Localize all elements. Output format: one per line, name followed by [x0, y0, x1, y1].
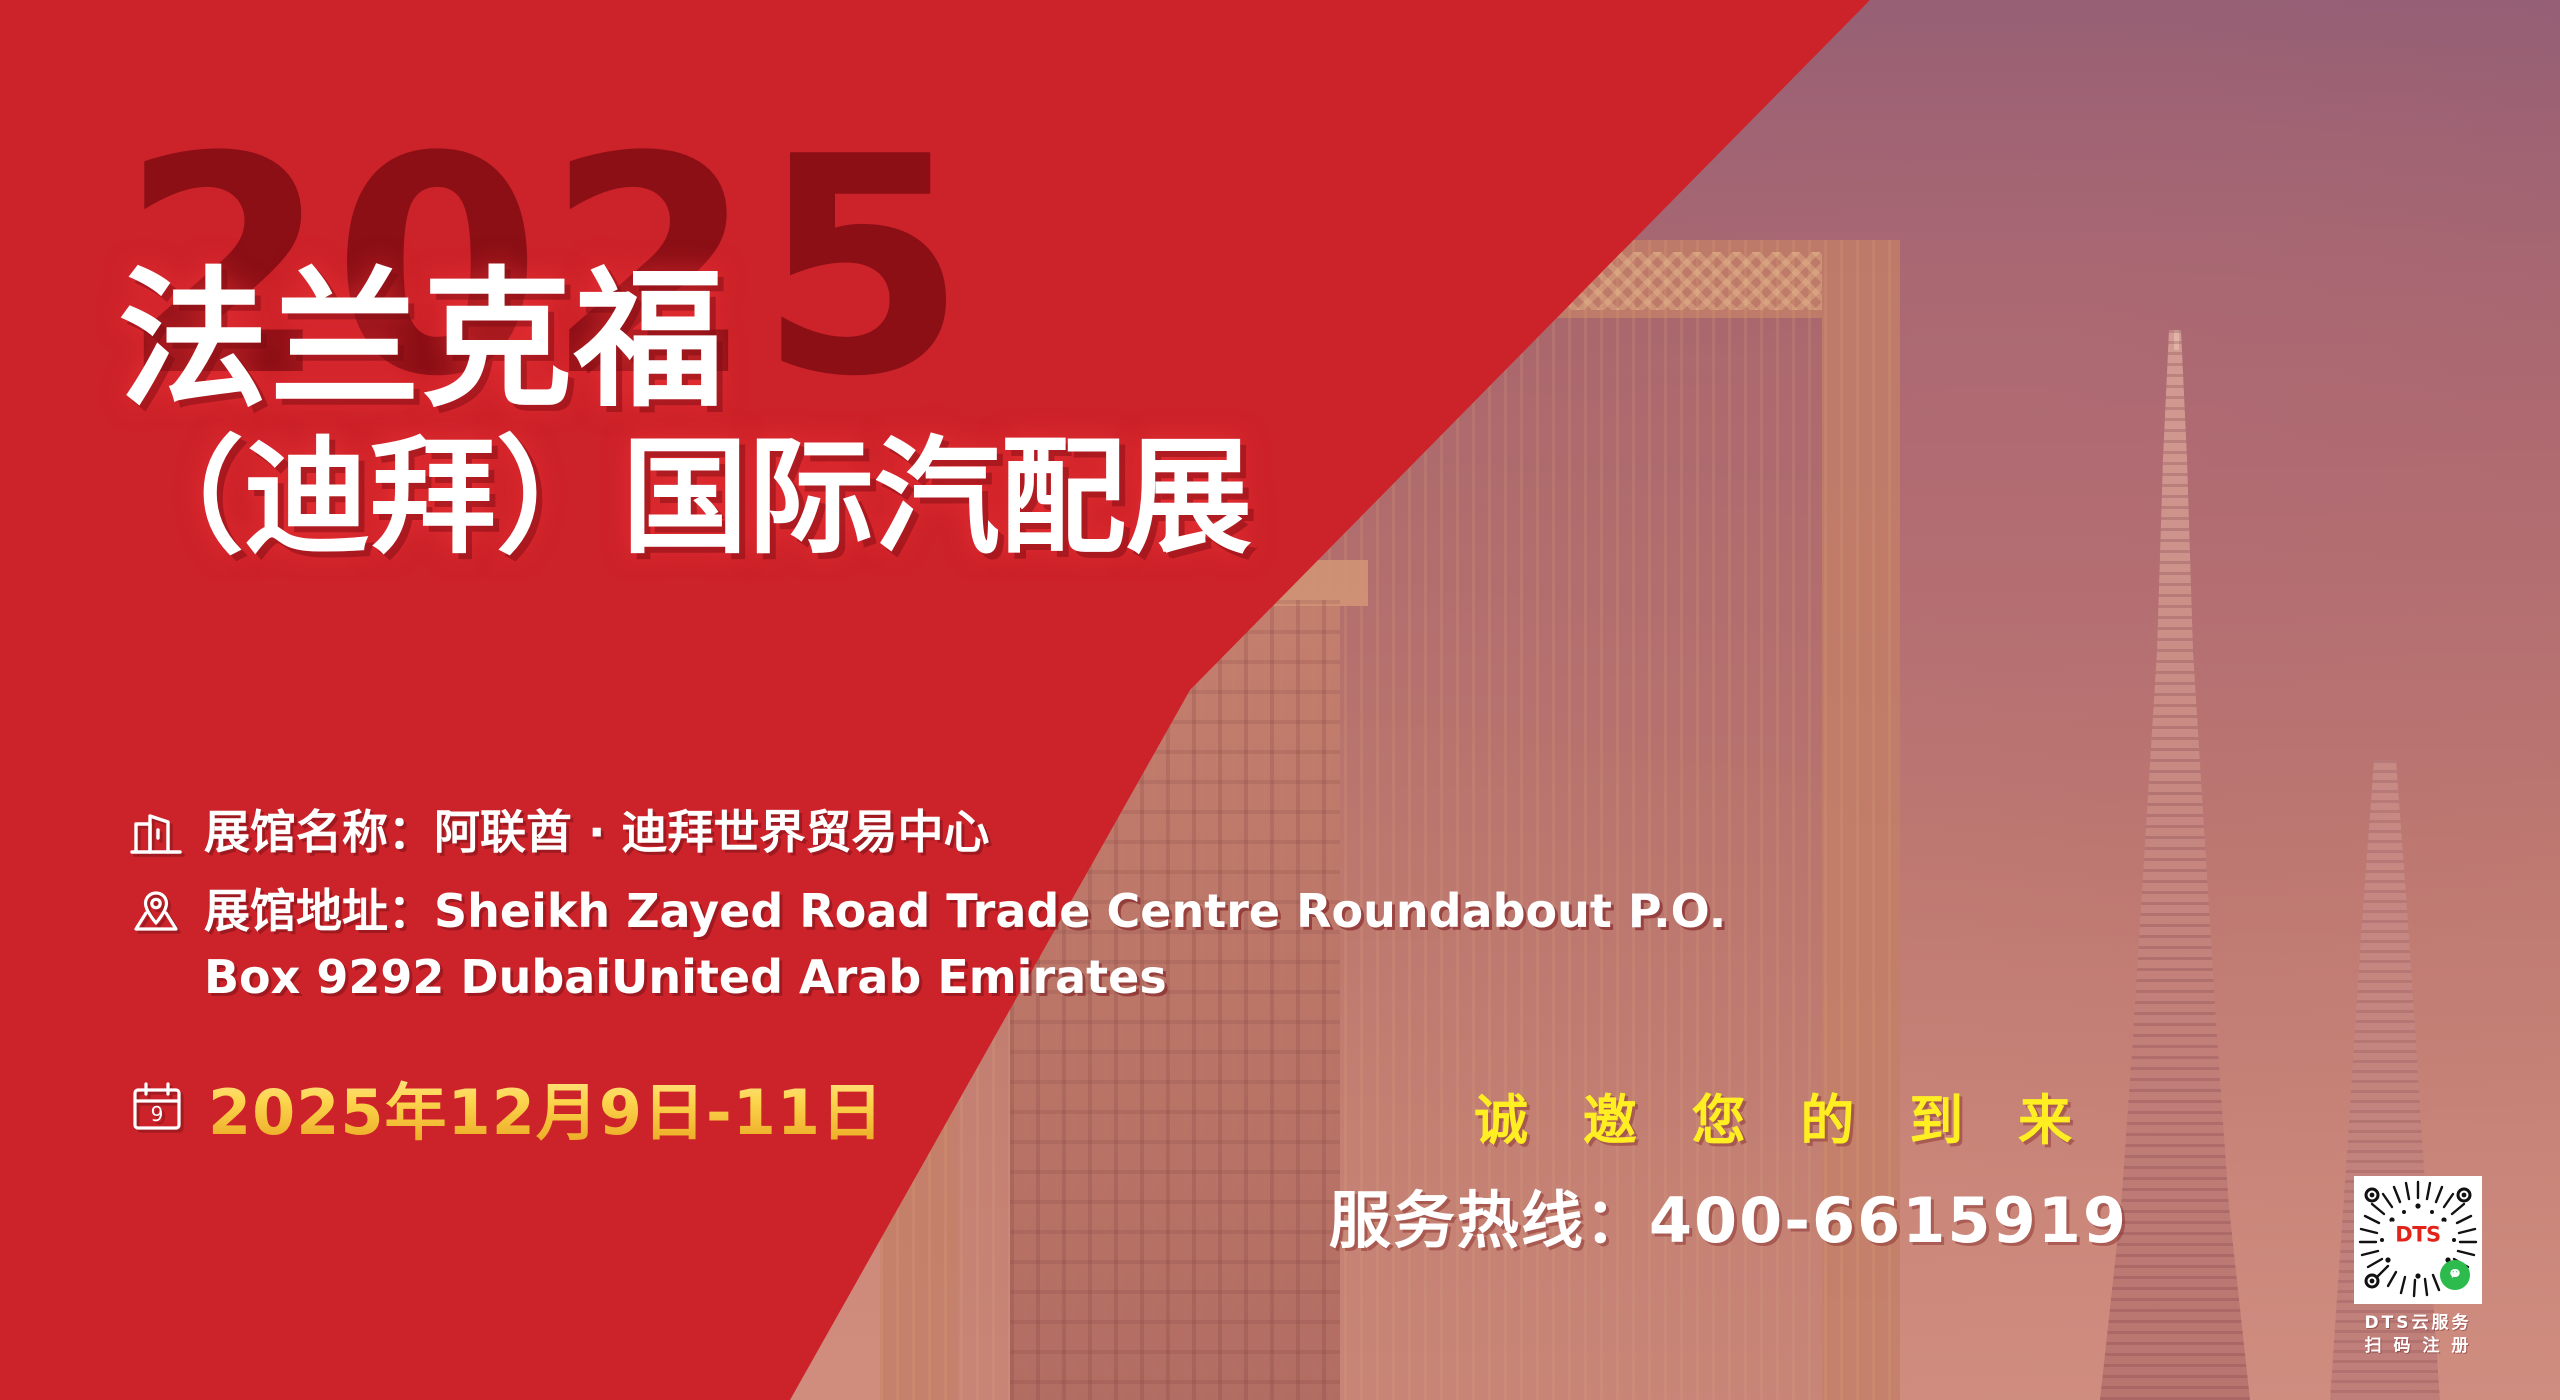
venue-address-line-1: 展馆地址：Sheikh Zayed Road Trade Centre Roun…	[204, 884, 1726, 938]
qr-caption: DTS云服务 扫 码 注 册	[2354, 1312, 2482, 1358]
event-date-text: 2025年12月9日-11日	[208, 1062, 884, 1152]
venue-address-row: 展馆地址：Sheikh Zayed Road Trade Centre Roun…	[128, 879, 1726, 1010]
museum-building-icon	[128, 804, 184, 860]
page-title: 法兰克福 （迪拜）国际汽配展	[118, 260, 1252, 566]
venue-address-line-2: Box 9292 DubaiUnited Arab Emirates	[204, 950, 1167, 1004]
map-location-pin-icon	[128, 883, 184, 939]
invitation-text: 诚 邀 您 的 到 来	[1474, 1076, 2090, 1155]
venue-name-row: 展馆名称：阿联酋 · 迪拜世界贸易中心	[128, 800, 1726, 865]
dts-logo: DTS	[2388, 1222, 2447, 1249]
svg-text:9: 9	[151, 1102, 164, 1126]
service-hotline-text: 服务热线：400-6615919	[1329, 1170, 2128, 1260]
title-line-2: （迪拜）国际汽配展	[118, 430, 1252, 566]
qr-caption-line-1: DTS云服务	[2354, 1312, 2482, 1335]
qr-caption-line-2: 扫 码 注 册	[2354, 1335, 2482, 1358]
calendar-icon: 9	[128, 1078, 186, 1136]
title-line-1: 法兰克福	[118, 260, 1252, 422]
exhibition-banner: 2025 法兰克福 （迪拜）国际汽配展 展馆名称：阿联酋 · 迪拜世界贸易中心	[0, 0, 2560, 1400]
venue-name-text: 展馆名称：阿联酋 · 迪拜世界贸易中心	[204, 800, 990, 865]
wechat-miniprogram-badge-icon	[2440, 1260, 2470, 1290]
qr-code-image[interactable]: DTS	[2354, 1176, 2482, 1304]
qr-registration-block[interactable]: DTS DTS云服务 扫 码 注 册	[2354, 1176, 2482, 1358]
venue-address-text: 展馆地址：Sheikh Zayed Road Trade Centre Roun…	[204, 879, 1726, 1010]
